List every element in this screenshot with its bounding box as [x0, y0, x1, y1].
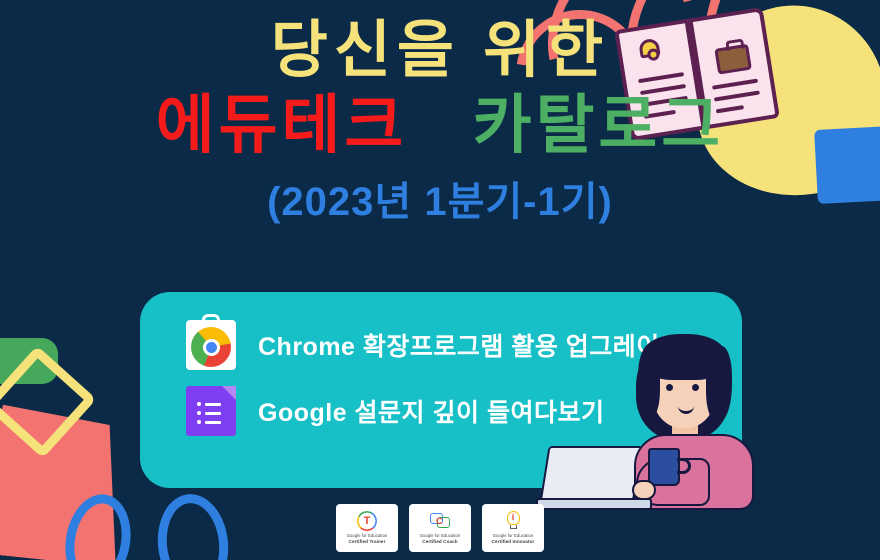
- google-certified-trainer-icon: T: [357, 511, 377, 531]
- coach-icon-letter: C: [436, 516, 443, 526]
- course-item-chrome-label: Chrome 확장프로그램 활용 업그레이드: [258, 327, 683, 363]
- course-item-chrome[interactable]: Chrome 확장프로그램 활용 업그레이드: [186, 320, 683, 370]
- headline-block: 당신을 위한 에듀테크 카탈로그 (2023년 1분기-1기): [0, 18, 880, 227]
- google-certified-coach-icon: C: [430, 511, 450, 531]
- badge-certified-coach[interactable]: C Google for Education Certified Coach: [409, 504, 471, 552]
- badge-certified-trainer[interactable]: T Google for Education Certified Trainer: [336, 504, 398, 552]
- headline-line-1: 당신을 위한: [0, 18, 880, 84]
- badge-innovator-title: Certified Innovator: [492, 539, 535, 545]
- badge-innovator-org: Google for Education: [493, 533, 533, 538]
- course-item-forms[interactable]: Google 설문지 깊이 들여다보기: [186, 386, 604, 436]
- badge-certified-innovator[interactable]: i Google for Education Certified Innovat…: [482, 504, 544, 552]
- badge-coach-org: Google for Education: [420, 533, 460, 538]
- headline-line-2: 에듀테크 카탈로그: [0, 88, 880, 164]
- badge-coach-title: Certified Coach: [420, 539, 460, 545]
- chrome-web-store-icon: [186, 320, 236, 370]
- headline-catalog: 카탈로그: [473, 89, 725, 161]
- google-certified-innovator-icon: i: [503, 511, 523, 531]
- certification-badge-row: T Google for Education Certified Trainer…: [0, 504, 880, 552]
- green-rounded-rect-shape: [0, 338, 58, 384]
- headline-subtitle: (2023년 1분기-1기): [0, 169, 880, 227]
- poster-canvas: 당신을 위한 에듀테크 카탈로그 (2023년 1분기-1기) Chrome 확…: [0, 0, 880, 560]
- course-list-card: Chrome 확장프로그램 활용 업그레이드 Google 설문지 깊이 들여다…: [140, 292, 742, 488]
- google-forms-icon: [186, 386, 236, 436]
- trainer-icon-letter: T: [357, 514, 377, 528]
- course-item-forms-label: Google 설문지 깊이 들여다보기: [258, 393, 604, 429]
- headline-edutech: 에듀테크: [156, 89, 408, 161]
- badge-trainer-title: Certified Trainer: [347, 539, 387, 545]
- badge-trainer-org: Google for Education: [347, 533, 387, 538]
- yellow-handle-shape: [0, 346, 96, 459]
- innovator-icon-letter: i: [503, 512, 523, 523]
